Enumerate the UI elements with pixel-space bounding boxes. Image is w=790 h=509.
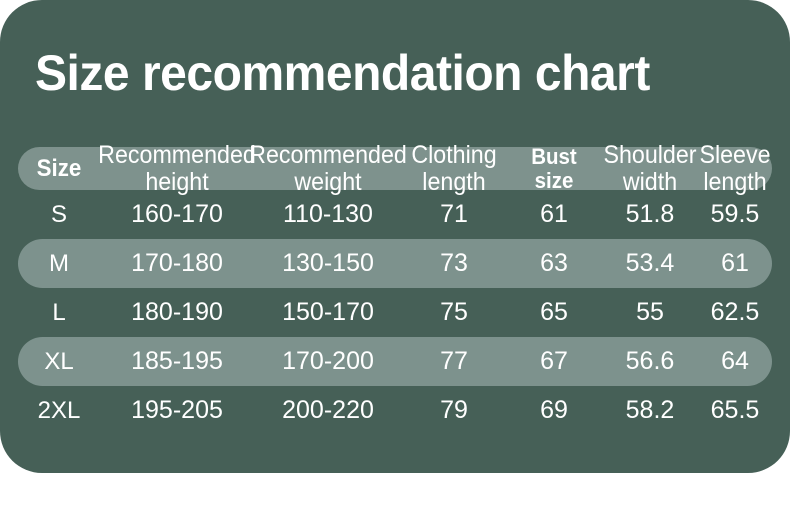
cell-size: M xyxy=(18,239,100,288)
size-table: Size Recommended height Recommended weig… xyxy=(18,147,772,435)
table-row: M 170-180 130-150 73 63 53.4 61 xyxy=(18,239,772,288)
cell-recommended-height: 160-170 xyxy=(100,190,254,239)
cell-shoulder-width: 53.4 xyxy=(602,239,698,288)
cell-shoulder-width: 58.2 xyxy=(602,386,698,435)
cell-recommended-weight: 130-150 xyxy=(254,239,402,288)
table-row: 2XL 195-205 200-220 79 69 58.2 65.5 xyxy=(18,386,772,435)
column-header-clothing-length: Clothing length xyxy=(406,147,503,190)
cell-clothing-length: 73 xyxy=(402,239,506,288)
column-header-shoulder-width: Shoulder width xyxy=(605,147,694,190)
column-header-recommended-weight: Recommended weight xyxy=(259,147,397,190)
cell-recommended-height: 185-195 xyxy=(100,337,254,386)
cell-bust-size: 69 xyxy=(506,386,602,435)
cell-size: XL xyxy=(18,337,100,386)
cell-clothing-length: 77 xyxy=(402,337,506,386)
table-row: S 160-170 110-130 71 61 51.8 59.5 xyxy=(18,190,772,239)
cell-sleeve-length: 65.5 xyxy=(698,386,772,435)
column-header-size: Size xyxy=(21,147,97,190)
page-title: Size recommendation chart xyxy=(35,44,650,102)
cell-recommended-height: 170-180 xyxy=(100,239,254,288)
table-row: L 180-190 150-170 75 65 55 62.5 xyxy=(18,288,772,337)
cell-recommended-height: 180-190 xyxy=(100,288,254,337)
column-header-sleeve-length: Sleeve length xyxy=(701,147,770,190)
cell-clothing-length: 71 xyxy=(402,190,506,239)
table-row: XL 185-195 170-200 77 67 56.6 64 xyxy=(18,337,772,386)
cell-sleeve-length: 59.5 xyxy=(698,190,772,239)
cell-shoulder-width: 55 xyxy=(602,288,698,337)
size-chart-card: Size recommendation chart Size Recommend… xyxy=(0,0,790,473)
cell-recommended-weight: 150-170 xyxy=(254,288,402,337)
cell-bust-size: 63 xyxy=(506,239,602,288)
cell-size: S xyxy=(18,190,100,239)
cell-bust-size: 61 xyxy=(506,190,602,239)
cell-recommended-weight: 200-220 xyxy=(254,386,402,435)
cell-clothing-length: 79 xyxy=(402,386,506,435)
cell-shoulder-width: 51.8 xyxy=(602,190,698,239)
cell-recommended-weight: 170-200 xyxy=(254,337,402,386)
table-header-row: Size Recommended height Recommended weig… xyxy=(18,147,772,190)
cell-sleeve-length: 64 xyxy=(698,337,772,386)
column-header-bust-size: Bust size xyxy=(509,147,598,190)
cell-size: L xyxy=(18,288,100,337)
column-header-recommended-height: Recommended height xyxy=(105,147,248,190)
cell-sleeve-length: 62.5 xyxy=(698,288,772,337)
cell-clothing-length: 75 xyxy=(402,288,506,337)
cell-recommended-weight: 110-130 xyxy=(254,190,402,239)
cell-shoulder-width: 56.6 xyxy=(602,337,698,386)
cell-bust-size: 65 xyxy=(506,288,602,337)
cell-recommended-height: 195-205 xyxy=(100,386,254,435)
cell-bust-size: 67 xyxy=(506,337,602,386)
cell-sleeve-length: 61 xyxy=(698,239,772,288)
cell-size: 2XL xyxy=(18,386,100,435)
